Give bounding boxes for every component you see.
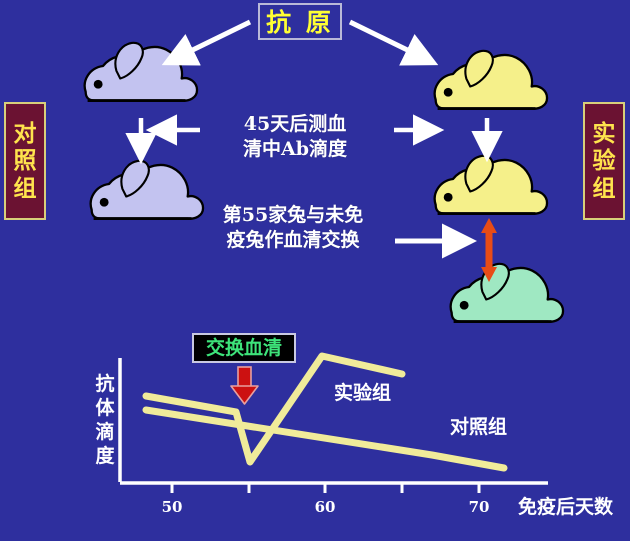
slide-canvas: 抗 原 对 照 组 实 验 组 45天后测血 清中Ab滴度 第55家兔与未免 疫… [0, 0, 630, 541]
experimental-rabbit-top [435, 51, 547, 109]
chart-x-axis-label: 免疫后天数 [518, 492, 613, 519]
chart-label-experimental: 实验组 [334, 378, 391, 405]
arrow-antigen-to-experimental [350, 22, 432, 62]
exchange-point-down-arrow [231, 367, 258, 404]
experimental-rabbit-middle [435, 156, 547, 214]
control-rabbit-bottom [91, 161, 203, 219]
serum-exchange-callout-label: 交换血清 [206, 337, 282, 359]
naive-rabbit-bottom [451, 264, 563, 322]
chart-label-control: 对照组 [450, 412, 507, 439]
serum-exchange-callout: 交换血清 [192, 333, 296, 363]
chart-y-axis-label: 抗体滴度 [93, 372, 117, 468]
serum-exchange-double-arrow [481, 218, 497, 282]
chart-xtick-70: 70 [459, 498, 499, 516]
control-rabbit-top [85, 43, 197, 101]
chart-xtick-50: 50 [152, 498, 192, 516]
chart-xtick-60: 60 [305, 498, 345, 516]
arrow-antigen-to-control [168, 22, 250, 62]
